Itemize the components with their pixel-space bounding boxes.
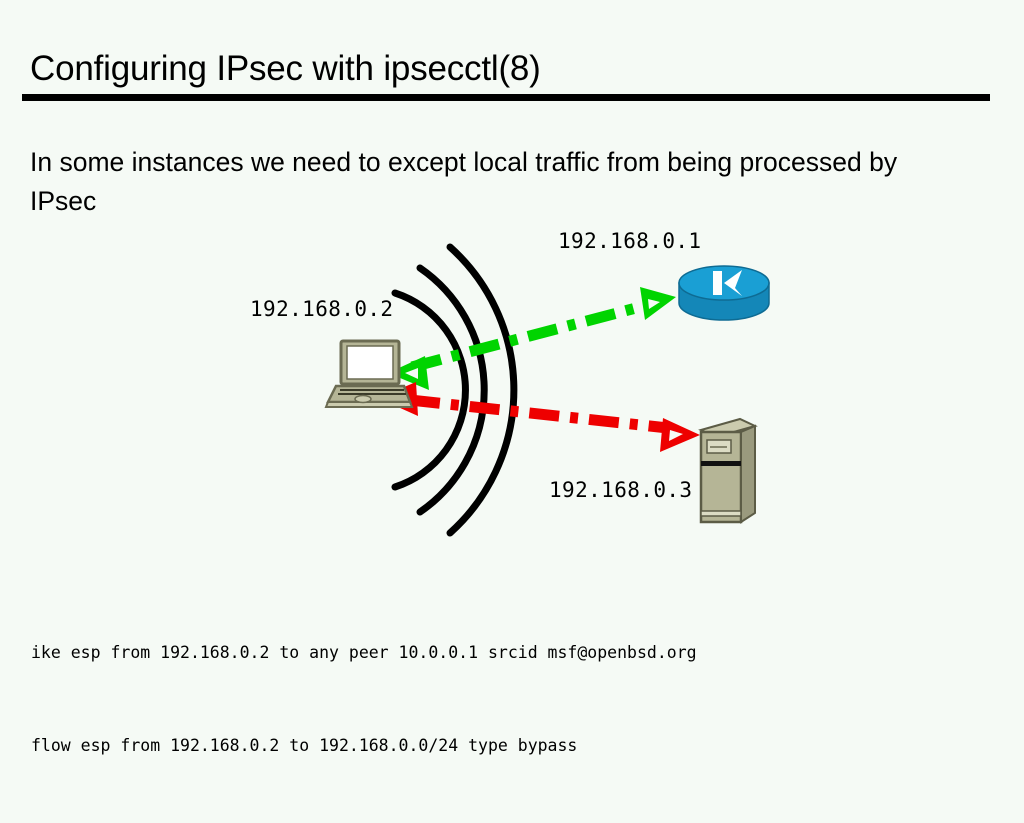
slide-canvas: Configuring IPsec with ipsecctl(8) In so… <box>0 0 1024 768</box>
laptop-server-line <box>410 400 668 428</box>
network-diagram <box>0 210 1024 540</box>
page-title: Configuring IPsec with ipsecctl(8) <box>30 48 541 90</box>
wireless-arc-2 <box>420 268 484 512</box>
network-diagram-svg <box>0 210 1024 540</box>
laptop-icon <box>326 341 412 407</box>
arrowhead-to-router <box>640 287 676 320</box>
laptop-server-link <box>378 382 700 452</box>
title-divider <box>22 94 990 101</box>
server-icon <box>701 419 755 522</box>
code-line-ike: ike esp from 192.168.0.2 to any peer 10.… <box>31 637 697 668</box>
router-icon <box>679 266 769 320</box>
router-glyph-bar <box>713 271 722 295</box>
label-server-ip: 192.168.0.3 <box>549 478 692 502</box>
server-plinth <box>701 511 741 516</box>
laptop-front-lip <box>326 402 412 407</box>
code-block: ike esp from 192.168.0.2 to any peer 10.… <box>31 575 697 823</box>
label-router-ip: 192.168.0.1 <box>558 229 701 253</box>
code-line-flow: flow esp from 192.168.0.2 to 192.168.0.0… <box>31 730 697 761</box>
laptop-trackpad <box>355 396 371 403</box>
laptop-screen <box>347 346 393 379</box>
laptop-router-link <box>388 287 676 390</box>
label-laptop-ip: 192.168.0.2 <box>250 297 393 321</box>
server-divider <box>701 461 741 466</box>
server-side-face <box>741 426 755 522</box>
